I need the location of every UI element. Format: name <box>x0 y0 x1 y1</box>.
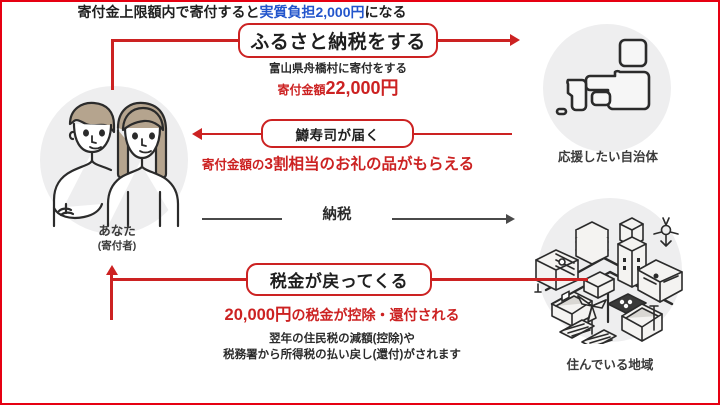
gift-flow-arrowhead <box>192 128 202 140</box>
gift-flow-line-right <box>412 133 512 135</box>
tax-flow-line-left <box>202 218 284 220</box>
footer-summary: 寄付金上限額内で寄付すると実質負担2,000円になる <box>2 2 482 22</box>
gift-flow-line-left <box>202 133 263 135</box>
refund-amount: 20,000円 <box>225 306 292 324</box>
donate-amount: 寄付金額22,000円 <box>218 76 458 101</box>
refund-sub-line2: 税務署から所得税の払い戻し(還付)がされます <box>182 348 502 364</box>
footer-highlight: 実質負担2,000円 <box>259 4 364 20</box>
donate-flow-arrowhead <box>510 34 520 46</box>
refund-flow-line-left <box>110 278 246 281</box>
gift-note: 寄付金額の3割相当のお礼の品がもらえる <box>162 154 514 176</box>
tax-flow-label: 納税 <box>282 206 392 226</box>
footer-suffix: になる <box>365 4 407 20</box>
furusato-nozei-diagram: あなた (寄付者) 応援したい自治体 住んでいる地域 ふるさと納税をする 富山県… <box>0 0 720 405</box>
donate-amount-value: 22,000円 <box>325 78 398 98</box>
footer-prefix: 寄付金上限額内で寄付すると <box>77 4 259 20</box>
municipality-label: 応援したい自治体 <box>547 150 669 166</box>
local-area-label: 住んでいる地域 <box>542 358 678 374</box>
refund-sub-text: 翌年の住民税の減額(控除)や 税務署から所得税の払い戻し(還付)がされます <box>182 332 502 363</box>
donate-pill: ふるさと納税をする <box>238 23 438 58</box>
donate-flow-vertical-line <box>111 40 114 90</box>
refund-flow-vertical-line <box>110 275 113 320</box>
donate-flow-line-right <box>436 39 512 42</box>
refund-flow-line-right <box>430 278 588 281</box>
refund-main-suffix: の税金が控除・還付される <box>291 307 459 323</box>
you-label: あなた (寄付者) <box>62 224 172 253</box>
region-map-illustration <box>550 28 666 144</box>
you-label-sub: (寄付者) <box>62 240 172 253</box>
gift-note-prefix: 寄付金額の <box>202 158 265 172</box>
tax-flow-arrowhead <box>506 214 515 224</box>
gift-note-suffix: がもらえる <box>397 156 474 173</box>
refund-flow-arrowhead <box>106 265 118 275</box>
refund-sub-line1: 翌年の住民税の減額(控除)や <box>182 332 502 348</box>
tax-flow-line-right <box>388 218 507 220</box>
gift-pill: 鱒寿司が届く <box>261 119 414 148</box>
refund-pill: 税金が戻ってくる <box>246 263 432 296</box>
you-label-main: あなた <box>98 224 136 238</box>
donate-amount-prefix: 寄付金額 <box>277 83 325 97</box>
refund-main-text: 20,000円の税金が控除・還付される <box>182 304 502 327</box>
isometric-town-illustration <box>530 194 688 344</box>
gift-note-emphasis: 3割相当のお礼の品 <box>264 156 397 173</box>
donate-flow-line-left <box>111 39 240 42</box>
